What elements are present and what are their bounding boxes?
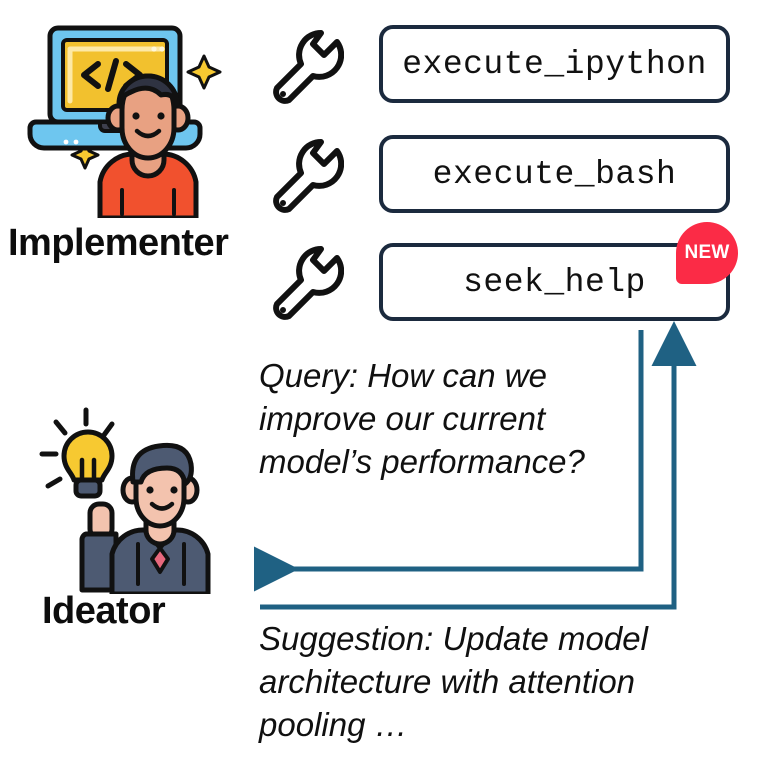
tool-label: execute_ipython	[402, 46, 707, 83]
tool-box-execute-ipython[interactable]: execute_ipython	[379, 25, 730, 103]
figure-canvas: Implementer	[0, 0, 758, 784]
ideator-avatar	[34, 398, 252, 594]
implementer-avatar	[22, 18, 250, 218]
tool-label: seek_help	[463, 264, 646, 301]
query-message: Query: How can we improve our current mo…	[259, 355, 589, 484]
suggestion-message: Suggestion: Update model architecture wi…	[259, 618, 679, 747]
ideator-label: Ideator	[42, 590, 165, 633]
wrench-icon	[258, 133, 344, 219]
tool-label: execute_bash	[433, 156, 677, 193]
new-badge-label: NEW	[685, 242, 730, 264]
implementer-label: Implementer	[8, 222, 228, 265]
tool-box-execute-bash[interactable]: execute_bash	[379, 135, 730, 213]
wrench-icon	[258, 24, 344, 110]
wrench-icon	[258, 240, 344, 326]
new-badge: NEW	[676, 222, 738, 284]
